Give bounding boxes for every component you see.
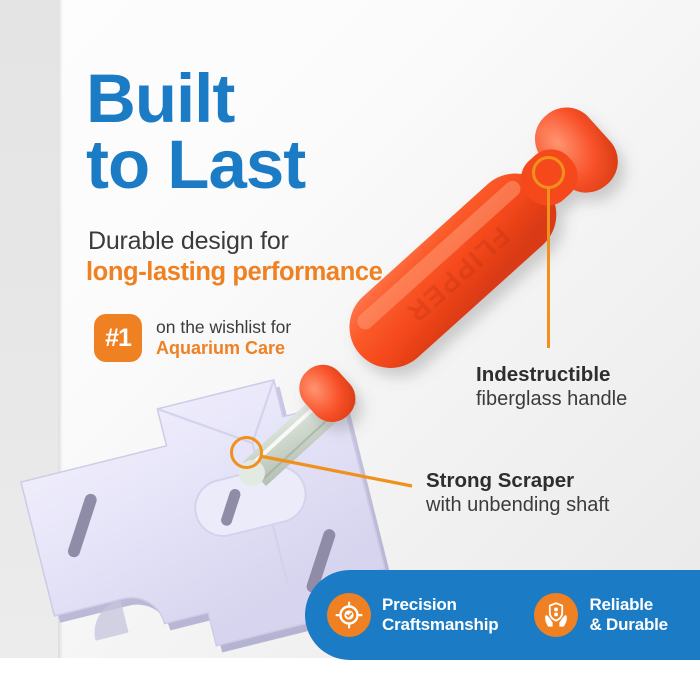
feature-label-reliable: Reliable & Durable — [589, 595, 668, 636]
subheadline-line1: Durable design for — [88, 227, 289, 256]
callout-scraper: Strong Scraper with unbending shaft — [426, 468, 609, 517]
wishlist-badge-line1: on the wishlist for — [156, 317, 291, 338]
wishlist-badge-line2: Aquarium Care — [156, 338, 291, 359]
callout-scraper-subtitle: with unbending shaft — [426, 493, 609, 517]
page-headline: Built to Last — [86, 66, 305, 198]
feature-label-precision: Precision Craftsmanship — [382, 595, 498, 636]
feature-item-reliable: Reliable & Durable — [534, 593, 668, 637]
feature-banner: Precision Craftsmanship Reliable & Durab… — [305, 570, 700, 660]
leader-line-handle — [547, 188, 550, 348]
subheadline-line2: long-lasting performance — [86, 258, 382, 287]
callout-handle-title: Indestructible — [476, 362, 627, 387]
callout-marker-handle — [532, 156, 565, 189]
hands-shield-icon — [534, 593, 578, 637]
product-marketing-banner: FLIPPER Built to Last Durable design for… — [0, 0, 700, 700]
feature-item-precision: Precision Craftsmanship — [327, 593, 498, 637]
callout-scraper-title: Strong Scraper — [426, 468, 609, 493]
callout-handle-subtitle: fiberglass handle — [476, 387, 627, 411]
rank-badge: #1 — [94, 314, 142, 362]
target-check-icon — [327, 593, 371, 637]
callout-marker-scraper — [230, 436, 263, 469]
wishlist-badge: #1 on the wishlist for Aquarium Care — [94, 314, 291, 362]
callout-handle: Indestructible fiberglass handle — [476, 362, 627, 411]
